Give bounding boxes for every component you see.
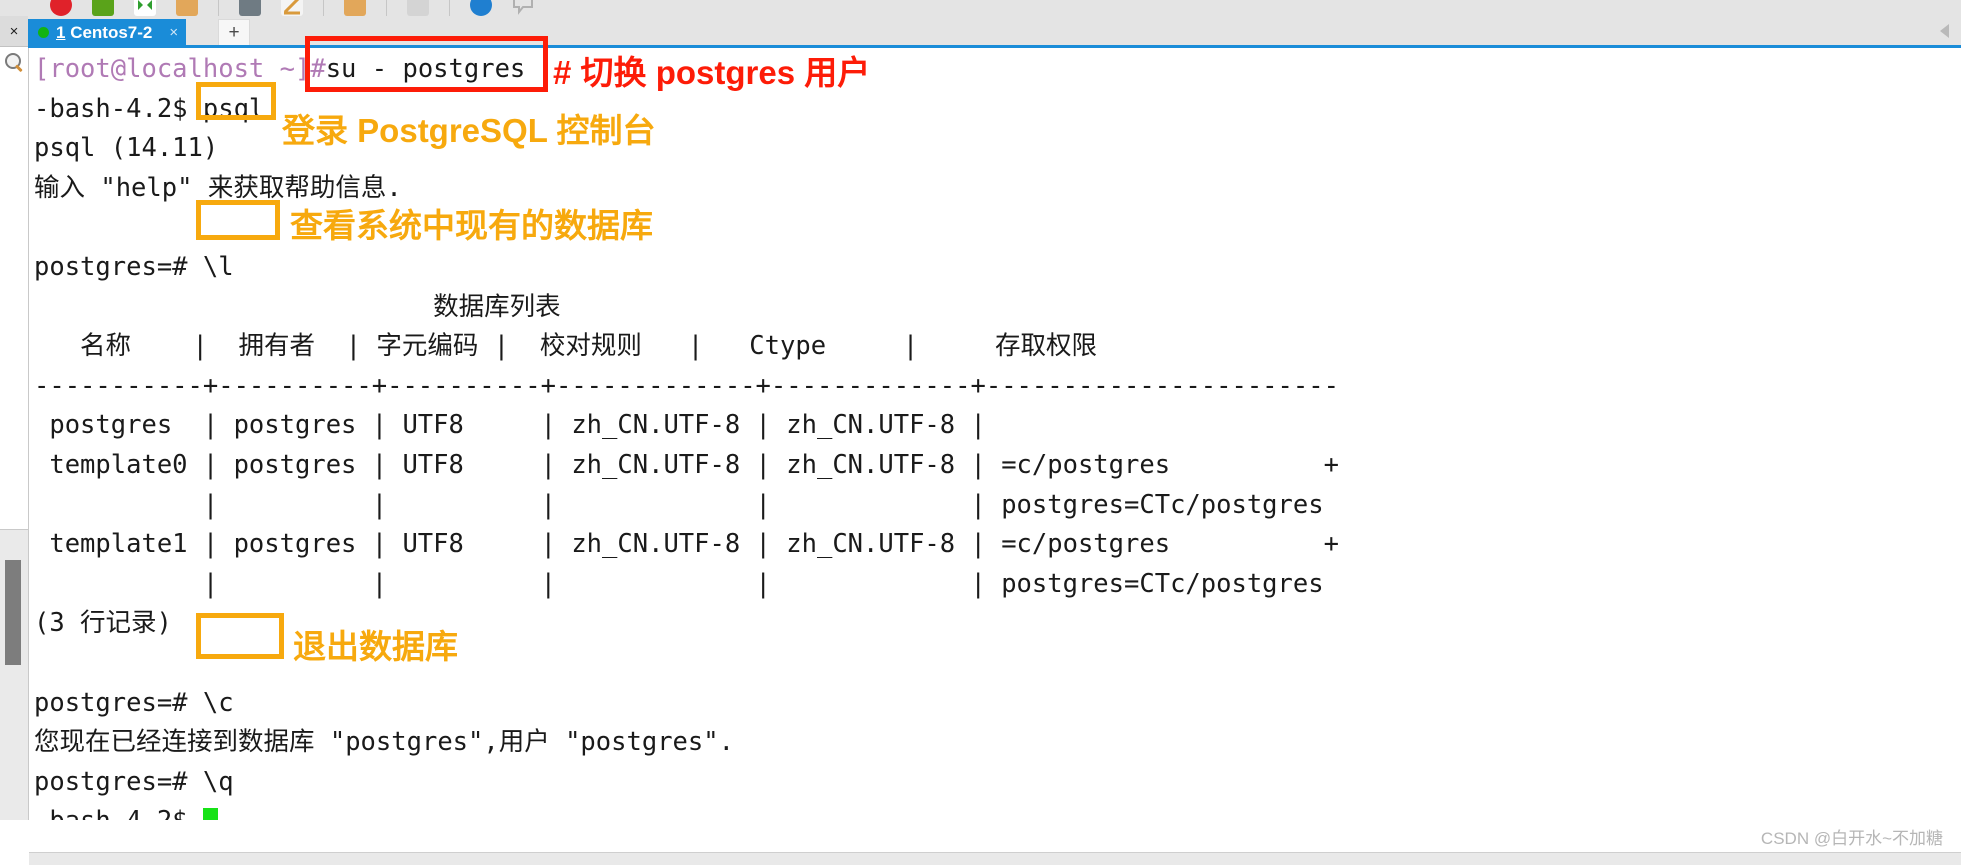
line-row-template1: template1 | postgres | UTF8 | zh_CN.UTF-…: [34, 525, 1339, 565]
terminal-pane[interactable]: [root@localhost ~]#su - postgres-bash-4.…: [29, 48, 1961, 820]
line-blank-2: [34, 644, 1339, 684]
record-icon[interactable]: [50, 0, 72, 16]
terminal-text-segment: -----------+----------+----------+------…: [34, 371, 1339, 401]
open-folder-icon[interactable]: [176, 0, 198, 16]
line-bash-final: -bash-4.2$: [34, 802, 1339, 820]
line-row-template0-cont: | | | | | postgres=CTc/postgres: [34, 486, 1339, 526]
bottom-scroll-strip[interactable]: [29, 852, 1961, 865]
line-rowcount: (3 行记录): [34, 604, 1339, 644]
line-help: 输入 "help" 来获取帮助信息.: [34, 169, 1339, 209]
terminal-output: [root@localhost ~]#su - postgres-bash-4.…: [34, 50, 1339, 820]
new-tab-button[interactable]: +: [218, 19, 250, 46]
line-backslash-l: postgres=# \l: [34, 248, 1339, 288]
terminal-text-segment: su - postgres: [326, 54, 526, 84]
keyboard-icon[interactable]: [239, 0, 261, 16]
line-table-title: 数据库列表: [34, 288, 1339, 328]
terminal-text-segment: postgres=# \c: [34, 688, 234, 718]
terminal-text-segment: postgres=# \l: [34, 252, 234, 282]
sidebar-scrollbar-thumb[interactable]: [5, 560, 21, 665]
terminal-text-segment: 名称 | 拥有者 | 字元编码 | 校对规则 | Ctype | 存取权限: [34, 331, 1097, 361]
comment-bubble-icon[interactable]: [512, 0, 534, 16]
terminal-cursor: [203, 808, 218, 820]
sidebar-bottom-panel: [0, 529, 28, 865]
comment-bubble-glyph: [512, 0, 534, 16]
terminal-text-segment: 您现在已经连接到数据库 "postgres",用户 "postgres".: [34, 727, 734, 757]
line-backslash-c: postgres=# \c: [34, 684, 1339, 724]
terminal-text-segment: postgres | postgres | UTF8 | zh_CN.UTF-8…: [34, 410, 986, 440]
tab-status-dot: [38, 27, 49, 38]
line-row-template0: template0 | postgres | UTF8 | zh_CN.UTF-…: [34, 446, 1339, 486]
info-icon[interactable]: [470, 0, 492, 16]
pencil-icon[interactable]: [281, 0, 303, 16]
line-table-rule: -----------+----------+----------+------…: [34, 367, 1339, 407]
window-icon[interactable]: [407, 0, 429, 16]
toolbar-divider: [449, 0, 450, 16]
terminal-text-segment: 数据库列表: [34, 292, 561, 322]
app-toolbar: [0, 0, 1961, 17]
pencil-glyph: [281, 0, 303, 16]
line-row-postgres: postgres | postgres | UTF8 | zh_CN.UTF-8…: [34, 406, 1339, 446]
terminal-text-segment: template1 | postgres | UTF8 | zh_CN.UTF-…: [34, 529, 1339, 559]
terminal-text-segment: 输入 "help" 来获取帮助信息.: [34, 173, 402, 203]
tab-bar: 1 Centos7-2 × +: [28, 16, 1961, 46]
toolbar-divider: [386, 0, 387, 16]
tab-label: 1 Centos7-2: [56, 23, 152, 43]
tab-centos7-2[interactable]: 1 Centos7-2 ×: [28, 19, 186, 46]
bottom-bar: CSDN @白开水~不加糖: [0, 820, 1961, 865]
transfer-arrows-icon[interactable]: [134, 0, 156, 16]
toolbar-divider: [323, 0, 324, 16]
tab-name: Centos7-2: [65, 23, 152, 42]
magnifier-glyph: [5, 53, 24, 72]
line-table-header: 名称 | 拥有者 | 字元编码 | 校对规则 | Ctype | 存取权限: [34, 327, 1339, 367]
line-version: psql (14.11): [34, 129, 1339, 169]
line-su: [root@localhost ~]#su - postgres: [34, 50, 1339, 90]
terminal-text-segment: postgres=# \q: [34, 767, 234, 797]
terminal-text-segment: (3 行记录): [34, 608, 172, 638]
toolbar-divider: [218, 0, 219, 16]
tab-close-icon[interactable]: ×: [169, 24, 178, 41]
checkmark-green-icon[interactable]: [92, 0, 114, 16]
terminal-text-segment: [root@localhost ~]: [34, 54, 310, 84]
terminal-text-segment: -bash-4.2$ psql: [34, 94, 264, 124]
close-icon[interactable]: ×: [0, 16, 28, 47]
toolbar-icon-group: [50, 0, 534, 16]
terminal-text-segment: template0 | postgres | UTF8 | zh_CN.UTF-…: [34, 450, 1339, 480]
line-connected: 您现在已经连接到数据库 "postgres",用户 "postgres".: [34, 723, 1339, 763]
line-row-template1-cont: | | | | | postgres=CTc/postgres: [34, 565, 1339, 605]
triangle-left-icon[interactable]: [1940, 24, 1949, 38]
terminal-text-segment: -bash-4.2$: [34, 806, 203, 820]
terminal-text-segment: #: [310, 54, 325, 84]
search-icon[interactable]: [0, 47, 28, 77]
line-blank-1: [34, 208, 1339, 248]
line-psql: -bash-4.2$ psql: [34, 90, 1339, 130]
package-icon[interactable]: [344, 0, 366, 16]
watermark-text: CSDN @白开水~不加糖: [1761, 824, 1943, 849]
terminal-text-segment: psql (14.11): [34, 133, 218, 163]
terminal-text-segment: | | | | | postgres=CTc/postgres: [34, 569, 1324, 599]
line-backslash-q: postgres=# \q: [34, 763, 1339, 803]
terminal-text-segment: | | | | | postgres=CTc/postgres: [34, 490, 1324, 520]
left-sidebar: ×: [0, 16, 29, 865]
transfer-arrows-glyph: [134, 0, 156, 16]
